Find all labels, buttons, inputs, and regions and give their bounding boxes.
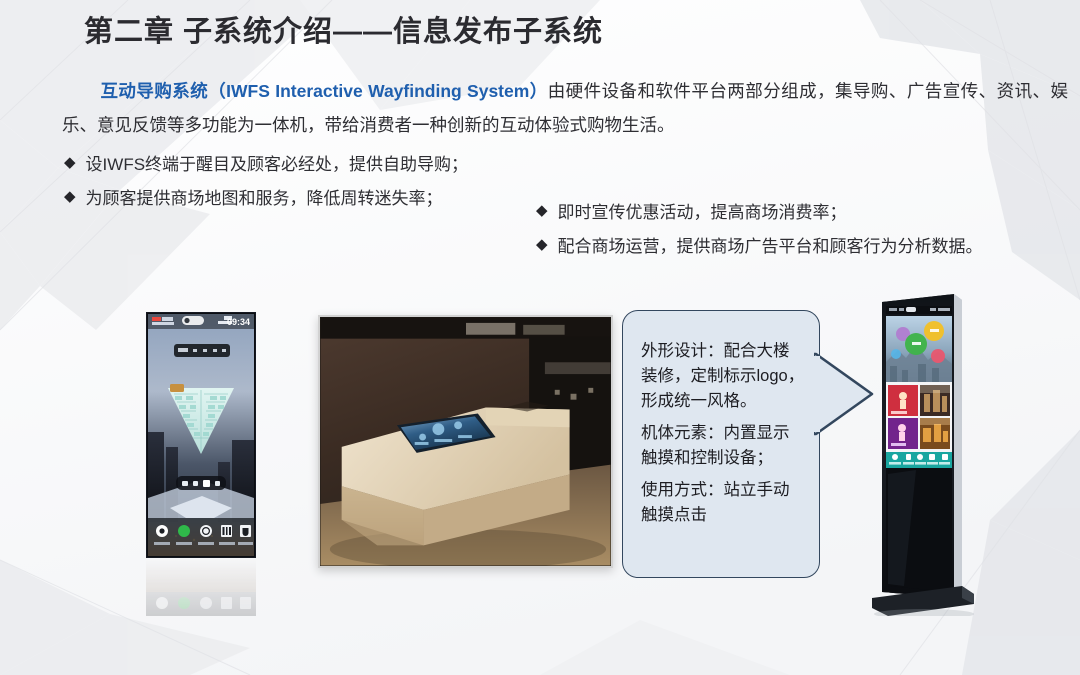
callout-tail-icon <box>814 352 874 436</box>
callout-line-2: 机体元素：内置显示触摸和控制设备； <box>641 421 805 471</box>
diamond-bullet-icon: ◆ <box>536 237 548 252</box>
kiosk-status-time: 09:34 <box>227 317 250 327</box>
right-standing-kiosk <box>858 286 980 616</box>
left-kiosk-reflection <box>146 558 256 616</box>
callout-line-3: 使用方式：站立手动触摸点击 <box>641 478 805 528</box>
bullet-item-left-1: ◆ 设IWFS终端于醒目及顾客必经处，提供自助导购； <box>64 150 468 175</box>
diamond-bullet-icon: ◆ <box>64 189 76 204</box>
callout-line-1: 外形设计：配合大楼装修，定制标示logo，形成统一风格。 <box>641 339 805 414</box>
intro-paragraph: 互动导购系统（IWFS Interactive Wayfinding Syste… <box>62 74 1068 142</box>
diamond-bullet-icon: ◆ <box>64 155 76 170</box>
bullet-label: 设IWFS终端于醒目及顾客必经处，提供自助导购； <box>86 150 469 175</box>
left-kiosk-display: 09:34 <box>146 312 256 558</box>
bullet-item-left-2: ◆ 为顾客提供商场地图和服务，降低周转迷失率； <box>64 184 443 209</box>
callout-text: 外形设计：配合大楼装修，定制标示logo，形成统一风格。 机体元素：内置显示触摸… <box>641 339 805 535</box>
design-callout-bubble: 外形设计：配合大楼装修，定制标示logo，形成统一风格。 机体元素：内置显示触摸… <box>622 310 820 578</box>
bullet-label: 即时宣传优惠活动，提高商场消费率； <box>558 198 847 223</box>
bullet-item-right-2: ◆ 配合商场运营，提供商场广告平台和顾客行为分析数据。 <box>536 232 983 257</box>
bullet-item-right-1: ◆ 即时宣传优惠活动，提高商场消费率； <box>536 198 847 223</box>
kiosk-hero-panel <box>886 316 952 382</box>
bullet-label: 配合商场运营，提供商场广告平台和顾客行为分析数据。 <box>558 232 983 257</box>
intro-lead: 互动导购系统（IWFS Interactive Wayfinding Syste… <box>100 81 548 101</box>
page-title: 第二章 子系统介绍——信息发布子系统 <box>84 8 603 50</box>
bullet-label: 为顾客提供商场地图和服务，降低周转迷失率； <box>86 184 443 209</box>
diamond-bullet-icon: ◆ <box>536 203 548 218</box>
bubble-pink <box>931 349 945 363</box>
touch-table-kiosk-photo <box>318 315 613 568</box>
bubble-blue <box>891 349 901 359</box>
